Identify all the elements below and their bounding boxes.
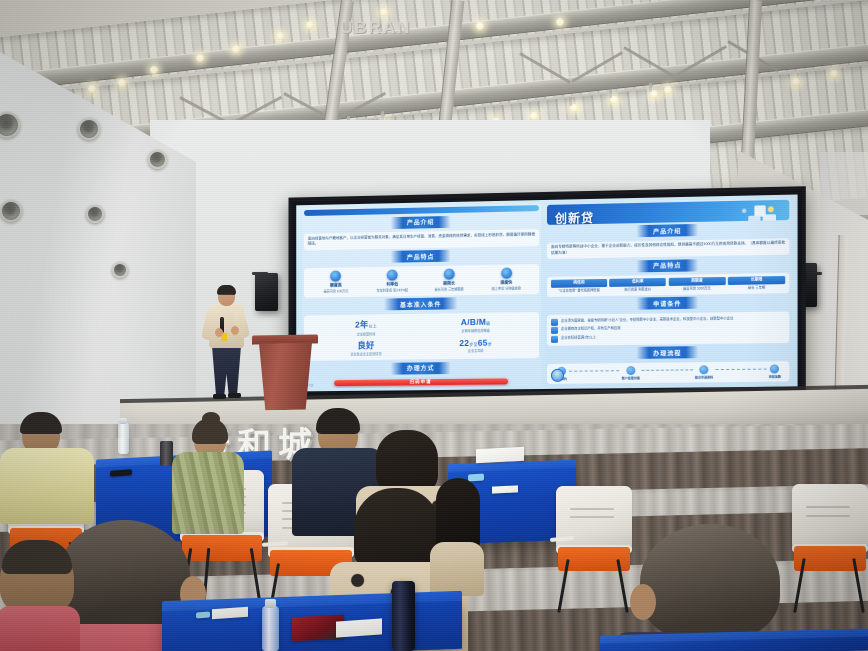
slide-right-title: 创新贷 <box>555 209 594 225</box>
light-stem <box>381 111 384 120</box>
slide-right-intro-text: 面向专精特新等科创中小企业，基于企业创新能力、成长性及其他综合性指标，提供最高不… <box>551 241 785 256</box>
submit-icon <box>699 365 708 374</box>
certificate-icon <box>551 318 558 325</box>
slide-right-subtitle: 最高授信额度1000万元 <box>556 224 615 225</box>
amount-icon <box>331 271 342 282</box>
feature-title: 速度快 <box>500 280 512 286</box>
manager-icon <box>626 366 635 375</box>
flow-label: 客户经理对接 <box>622 376 640 380</box>
tag-item: 纯信用 <box>551 278 607 287</box>
ceiling-light <box>118 79 126 87</box>
ceiling-light <box>556 18 564 26</box>
attendee-hair-bun <box>202 412 220 426</box>
slide-left-intro-panel: 面向经营地与户籍地客户，以企业经营者为服务对象，满足其日常生产经营、消费、资金周… <box>304 229 539 250</box>
attendee-hair <box>316 408 360 434</box>
feature-title: 利率低 <box>386 282 398 288</box>
qual-value: A/B/M <box>461 317 486 327</box>
condition-text: 企业须为国家级、省级专精特新"小巨人"企业，专精特新中小企业，高新技术企业，科技… <box>561 316 733 323</box>
slide-left-section-heading-3: 办理方式 <box>391 362 450 375</box>
feature-row: 额度高 最高可贷 100万元 利率低 年化利率低 至3.45%起 期限长 最长可… <box>308 267 535 294</box>
feature-desc: 线上申请 分钟级放款 <box>492 287 521 292</box>
paper-sheet <box>476 447 524 464</box>
ceiling-light <box>792 78 800 86</box>
patent-icon <box>551 327 558 334</box>
air-vent-icon <box>78 118 100 140</box>
qual-label: 近两年纳税信用等级 <box>423 327 529 333</box>
presenter <box>196 286 258 411</box>
ceiling-light <box>276 32 284 40</box>
presenter-shoe <box>228 393 241 398</box>
condition-text: 企业拥有自主知识产权，并有生产和应用 <box>561 326 621 332</box>
card-item <box>196 612 210 619</box>
flow-label: 审批放款 <box>769 374 781 378</box>
hero-illustration-icon <box>477 207 535 216</box>
qual-unit2: 岁 <box>488 341 492 346</box>
ceiling-light <box>88 85 96 93</box>
slide-right-section-heading-1: 产品特点 <box>637 259 698 272</box>
feature-desc: 年化利率低 至3.45%起 <box>377 288 409 293</box>
attendee-far-right <box>430 478 482 588</box>
slide-left-section-heading-0: 产品介绍 <box>391 216 450 229</box>
air-vent-icon <box>148 150 167 169</box>
slide-right-hero: 创新贷 最高授信额度1000万元 <box>547 200 789 225</box>
qual-label: 企业及企业主征信情况 <box>314 351 419 357</box>
qualification-grid: 2年以上 企业经营时间 A/B/M级 近两年纳税信用等级 良好 企业及企业主征信… <box>308 314 535 358</box>
slide-left-hero: 惠闪贷 随借随还按日计息 <box>304 205 539 216</box>
qualification-item: A/B/M级 近两年纳税信用等级 <box>423 316 529 335</box>
tag-item: 长期限 <box>728 275 785 284</box>
qualification-item: 22岁至65岁 企业主年龄 <box>423 337 529 356</box>
qual-label: 企业经营时间 <box>314 330 419 336</box>
qualification-item: 2年以上 企业经营时间 <box>314 318 419 337</box>
attendee-torso <box>430 542 484 596</box>
apply-cta-button[interactable]: 扫码申请 <box>334 378 508 386</box>
conference-room-photo: 惠闪贷 随借随还按日计息 产品介绍 面向经营地与户籍地客户，以企业经营者为服务对 <box>0 0 868 651</box>
slide-right-section-heading-3: 办理流程 <box>637 346 698 359</box>
tag-body: "以企业信用" 替代抵质押担保 <box>551 288 607 293</box>
flow-label: 提交申请资料 <box>695 375 713 379</box>
qual-value: 良好 <box>357 340 374 350</box>
ceiling-light <box>150 66 158 74</box>
ceiling-light <box>664 86 672 94</box>
term-icon <box>444 269 455 280</box>
slide-left-features-panel: 额度高 最高可贷 100万元 利率低 年化利率低 至3.45%起 期限长 最长可… <box>304 264 539 298</box>
ceiling-light <box>232 45 240 53</box>
attendee-hair <box>436 478 480 552</box>
tag-item: 高额度 <box>669 276 726 285</box>
paper-sheet <box>336 618 382 637</box>
feature-title: 额度高 <box>330 283 342 289</box>
slide-right-section-heading-0: 产品介绍 <box>637 224 698 237</box>
slide-left-section-heading-1: 产品特点 <box>391 250 450 263</box>
ceiling-light <box>476 22 484 30</box>
attendee-hair <box>2 540 72 574</box>
slide-left-intro-text: 面向经营地与户籍地客户，以企业经营者为服务对象，满足其日常生产经营、消费、资金周… <box>308 232 535 247</box>
attendee-hair <box>376 430 438 492</box>
presenter-hand <box>231 326 239 335</box>
air-vent-icon <box>0 200 22 222</box>
chair-back <box>792 484 868 548</box>
wall-speaker-left <box>255 273 278 311</box>
ceiling-light <box>530 112 538 120</box>
ceiling-light <box>306 21 314 29</box>
feature-item: 额度高 最高可贷 100万元 <box>310 270 362 294</box>
qual-value2: 65 <box>478 337 488 347</box>
presenter-legs <box>212 346 241 396</box>
tag-body: 最高可贷 1000万元 <box>669 286 726 291</box>
flow-connector <box>569 370 620 372</box>
tag-item: 低利率 <box>610 277 666 286</box>
ceiling-light <box>196 54 204 62</box>
attendee-hair <box>20 412 62 434</box>
presenter-shoe <box>213 394 226 399</box>
ceiling-light <box>380 8 388 16</box>
approval-icon <box>770 364 779 373</box>
qual-label: 企业主年龄 <box>423 347 529 353</box>
slide-right-section-heading-2: 申请条件 <box>637 297 698 310</box>
calendar-icon <box>551 335 558 342</box>
flow-connector <box>642 369 693 371</box>
glasses-icon <box>219 294 233 297</box>
ceiling-light <box>830 70 838 78</box>
thermos-flask <box>392 581 415 651</box>
feature-title: 期限长 <box>443 281 455 287</box>
feature-desc: 最高可贷 100万元 <box>324 289 349 294</box>
feature-desc: 最长可用 三年期限额 <box>434 287 463 292</box>
attendee-ear <box>630 584 656 620</box>
bottle-cap <box>265 599 276 608</box>
qual-value: 22 <box>459 337 469 347</box>
slide-right[interactable]: 创新贷 最高授信额度1000万元 产品介绍 面向专精特新等科创中小企业，基于企业… <box>545 198 791 386</box>
presenter-hand <box>215 328 223 337</box>
flow-connector <box>715 368 766 370</box>
slide-left-title: 惠闪贷 <box>312 214 350 216</box>
screen-content: 惠闪贷 随借随还按日计息 产品介绍 面向经营地与户籍地客户，以企业经营者为服务对 <box>296 195 797 392</box>
air-vent-icon <box>86 205 104 223</box>
qual-unit: 级 <box>486 321 490 326</box>
podium-body <box>259 343 312 411</box>
light-stem <box>649 83 652 92</box>
condition-bullet: 企业实际经营满1年以上 <box>551 332 785 342</box>
flow-step: 审批放款 <box>769 364 781 378</box>
rate-icon <box>387 270 398 281</box>
qualification-item: 良好 企业及企业主征信情况 <box>314 338 419 357</box>
led-video-wall[interactable]: 惠闪贷 随借随还按日计息 产品介绍 面向经营地与户籍地客户，以企业经营者为服务对 <box>288 186 805 399</box>
slide-left-section-heading-2: 基本准入条件 <box>384 297 457 310</box>
tag-body: 执行优惠 利率定价 <box>610 287 666 292</box>
slide-right-conditions-panel: 企业须为国家级、省级专精特新"小巨人"企业，专精特新中小企业，高新技术企业，科技… <box>547 311 789 346</box>
qual-unit: 以上 <box>369 323 377 328</box>
light-stem <box>609 89 612 98</box>
slide-right-intro-panel: 面向专精特新等科创中小企业，基于企业创新能力、成长性及其他综合性指标，提供最高不… <box>547 238 789 259</box>
light-stem <box>569 97 572 106</box>
water-bottle <box>262 606 279 651</box>
sign-subtext: UBRAN <box>340 18 411 38</box>
avatar <box>551 369 564 382</box>
speed-icon <box>501 268 512 279</box>
chair[interactable] <box>792 484 868 608</box>
flow-step: 提交申请资料 <box>695 365 713 379</box>
hero-illustration-icon <box>726 202 785 225</box>
condition-text: 企业实际经营满1年以上 <box>561 335 596 340</box>
attendee-torso <box>0 448 94 524</box>
slide-left-qualification-panel: 2年以上 企业经营时间 A/B/M级 近两年纳税信用等级 良好 企业及企业主征信… <box>304 312 539 361</box>
attendee-torso <box>0 606 80 651</box>
tag-body: 最长 三年期 <box>728 285 785 290</box>
feature-item: 速度快 线上申请 分钟级放款 <box>480 267 533 291</box>
qual-value: 2年 <box>355 320 368 330</box>
attendee-back-left-yellow <box>0 414 96 534</box>
slide-right-tags-panel: 纯信用 低利率 高额度 长期限 "以企业信用" 替代抵质押担保 执行优惠 利率定… <box>547 273 789 297</box>
slide-left[interactable]: 惠闪贷 随借随还按日计息 产品介绍 面向经营地与户籍地客户，以企业经营者为服务对 <box>302 203 541 388</box>
paper-sheet <box>492 485 518 493</box>
air-vent-icon <box>112 262 128 278</box>
feature-item: 利率低 年化利率低 至3.45%起 <box>366 269 418 293</box>
attendee-hair <box>354 488 440 572</box>
feature-item: 期限长 最长可用 三年期限额 <box>423 268 475 292</box>
slide-right-flow-panel: 线上预约 客户经理对接 提交申请资料 <box>547 361 789 384</box>
water-bottle <box>118 422 129 454</box>
flow-step: 客户经理对接 <box>622 366 640 380</box>
attendee-front-left-small <box>0 544 74 651</box>
bottle-cap <box>119 418 127 424</box>
flow-row: 线上预约 客户经理对接 提交申请资料 <box>551 363 785 381</box>
attendee-hair <box>640 524 780 640</box>
